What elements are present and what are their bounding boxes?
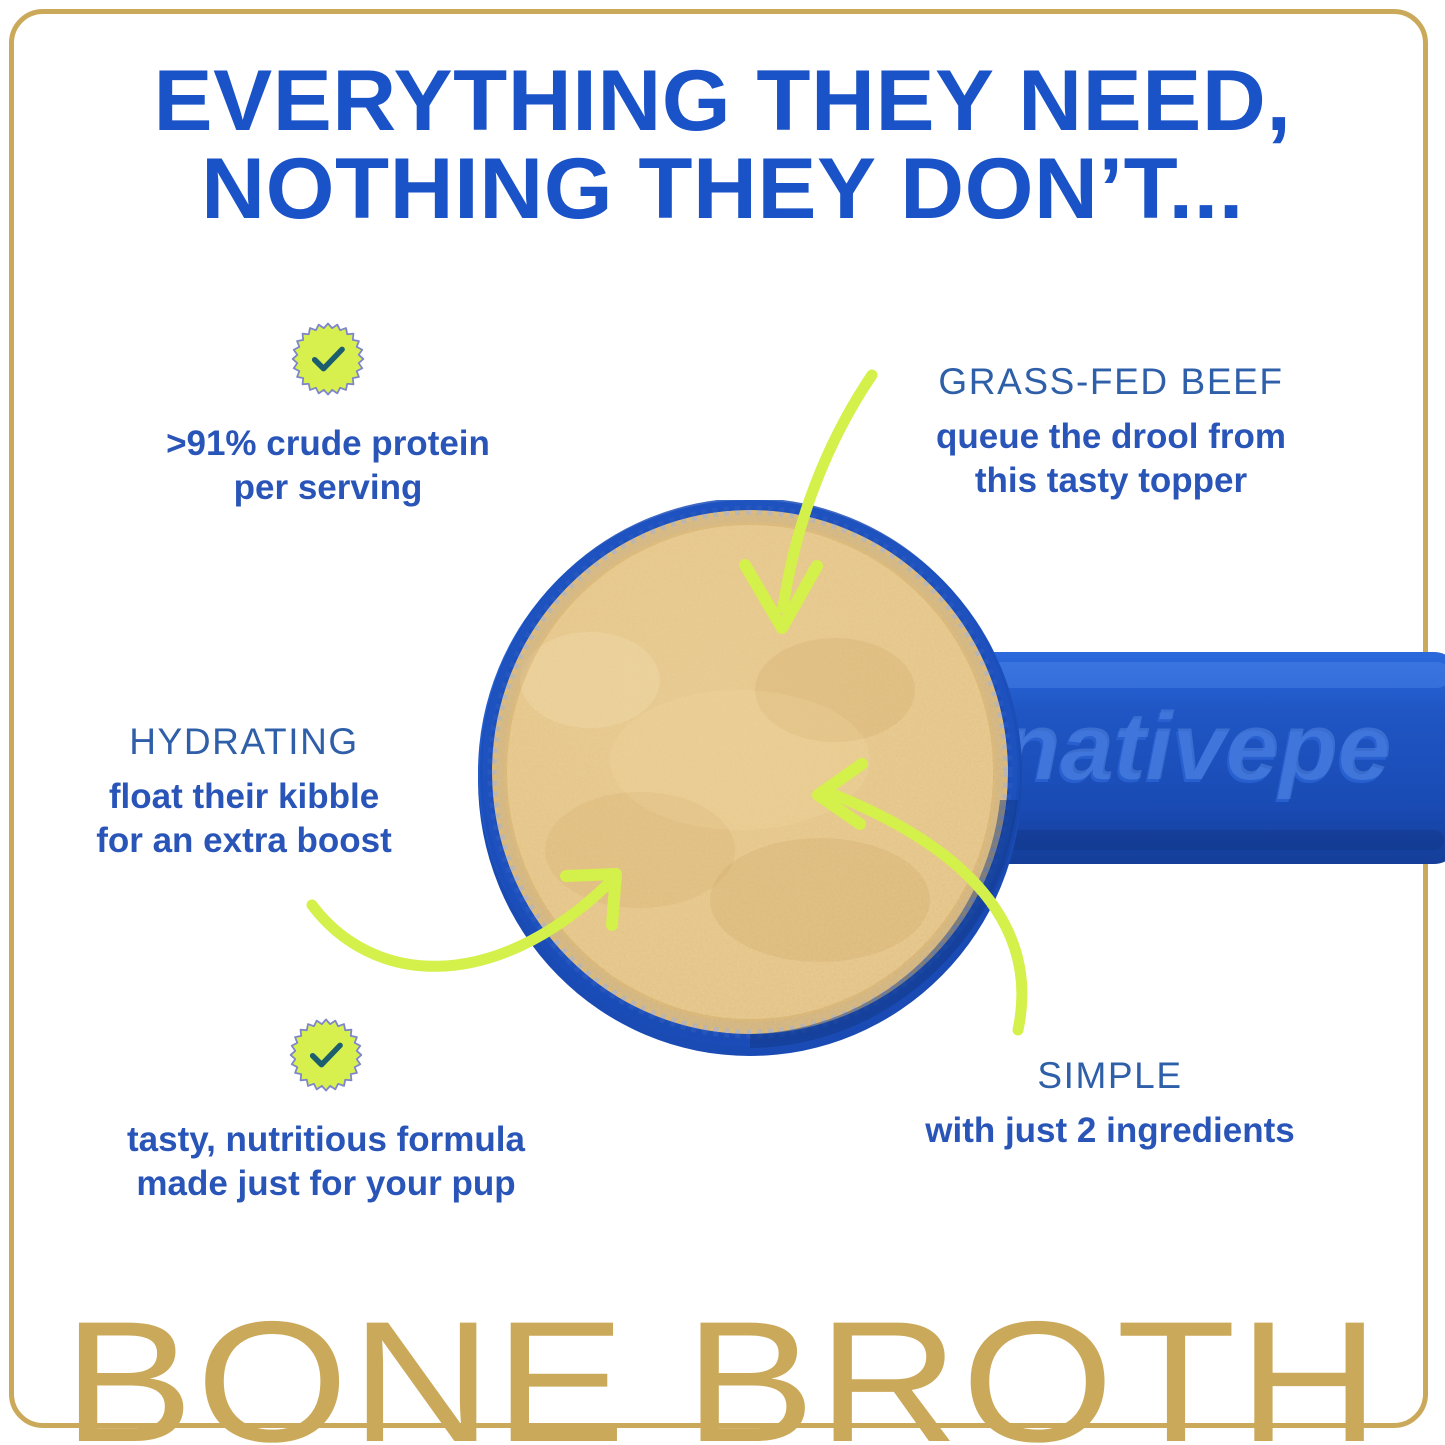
callout-heading: SIMPLE — [910, 1056, 1310, 1097]
callout-body: float their kibble for an extra boost — [63, 775, 425, 863]
product-name-bone-broth: BONE BROTH — [0, 1296, 1445, 1445]
scoop-bowl — [478, 500, 1022, 1056]
scoop-handle: nativepe nativepe — [960, 652, 1445, 864]
headline-line-2: NOTHING THEY DON’T... — [0, 146, 1445, 234]
callout-heading: HYDRATING — [63, 722, 425, 763]
product-photo-scoop: nativepe nativepe — [440, 500, 1445, 1060]
callout-body: with just 2 ingredients — [910, 1109, 1310, 1153]
callout-heading: GRASS-FED BEEF — [905, 362, 1317, 403]
svg-text:nativepe: nativepe — [1002, 693, 1391, 800]
callout-hydrating: HYDRATING float their kibble for an extr… — [63, 722, 425, 863]
badge-formula-text: tasty, nutritious formula made just for … — [98, 1118, 554, 1206]
check-badge-icon — [289, 1018, 363, 1092]
badge-formula: tasty, nutritious formula made just for … — [98, 1018, 554, 1206]
infographic-canvas: EVERYTHING THEY NEED, NOTHING THEY DON’T… — [0, 0, 1445, 1445]
headline-line-1: EVERYTHING THEY NEED, — [0, 58, 1445, 146]
callout-grass-fed-beef: GRASS-FED BEEF queue the drool from this… — [905, 362, 1317, 503]
badge-protein: >91% crude protein per serving — [142, 322, 514, 510]
callout-simple: SIMPLE with just 2 ingredients — [910, 1056, 1310, 1153]
check-badge-icon — [291, 322, 365, 396]
badge-protein-text: >91% crude protein per serving — [142, 422, 514, 510]
callout-body: queue the drool from this tasty topper — [905, 415, 1317, 503]
page-title: EVERYTHING THEY NEED, NOTHING THEY DON’T… — [0, 58, 1445, 233]
